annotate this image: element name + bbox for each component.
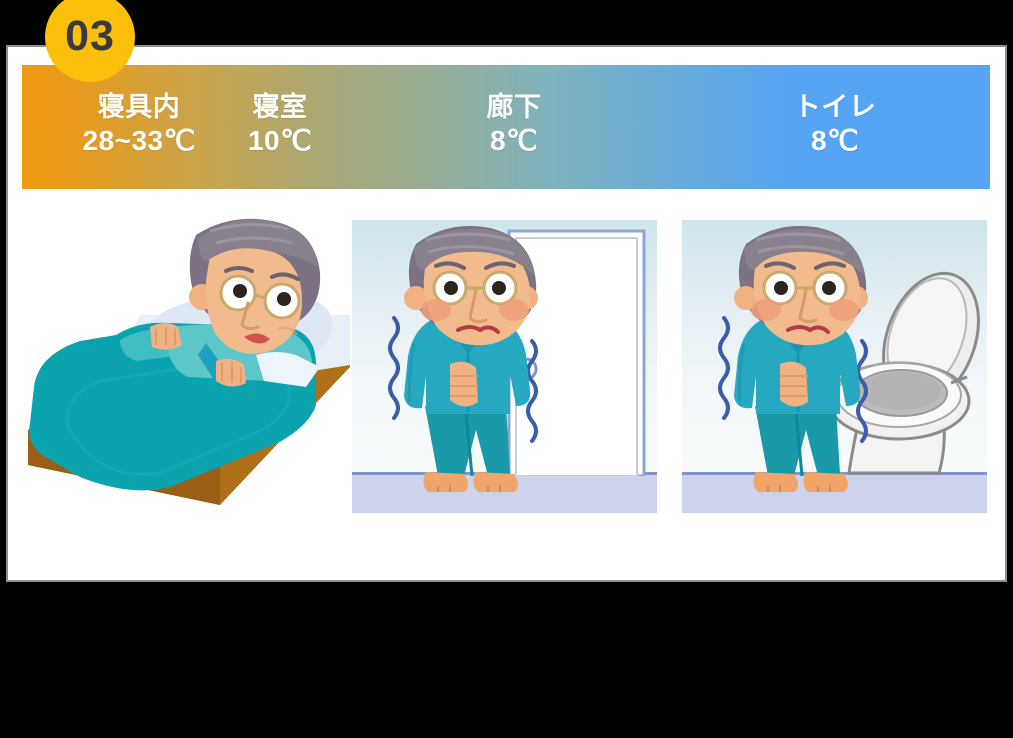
temp-label-hallway: 廊下 bbox=[414, 91, 614, 124]
shiver-line-left bbox=[390, 318, 398, 418]
foot-right bbox=[803, 472, 848, 492]
temperature-gradient-bar: 寝具内 28~33℃ 寝室 10℃ 廊下 8℃ トイレ 8℃ bbox=[22, 65, 990, 189]
cheek-right bbox=[829, 299, 859, 321]
temp-value-hallway: 8℃ bbox=[414, 124, 614, 158]
foot-left bbox=[753, 472, 798, 492]
temp-value-toilet: 8℃ bbox=[735, 124, 935, 158]
cheek-right bbox=[499, 299, 529, 321]
slide-canvas: 寝具内 28~33℃ 寝室 10℃ 廊下 8℃ トイレ 8℃ 03 bbox=[0, 0, 1013, 738]
cheek-left bbox=[421, 299, 451, 321]
temp-cell-bedroom: 寝室 10℃ bbox=[180, 91, 380, 158]
temp-label-bedroom: 寝室 bbox=[180, 91, 380, 124]
shiver-line-left bbox=[720, 318, 728, 418]
temp-cell-hallway: 廊下 8℃ bbox=[414, 91, 614, 158]
illustration-bed bbox=[20, 215, 370, 515]
temp-cell-toilet: トイレ 8℃ bbox=[735, 91, 935, 158]
foot-right bbox=[473, 472, 518, 492]
foot-left bbox=[423, 472, 468, 492]
panel-toilet bbox=[682, 220, 987, 513]
illustration-person-hallway bbox=[380, 226, 570, 511]
cheek-left bbox=[751, 299, 781, 321]
panel-hallway bbox=[352, 220, 657, 513]
step-number-text: 03 bbox=[65, 15, 115, 60]
illustration-person-toilet bbox=[710, 226, 900, 511]
temp-label-toilet: トイレ bbox=[735, 91, 935, 124]
clasped-hands bbox=[450, 362, 478, 407]
clasped-hands bbox=[780, 362, 808, 407]
temp-value-bedroom: 10℃ bbox=[180, 124, 380, 158]
